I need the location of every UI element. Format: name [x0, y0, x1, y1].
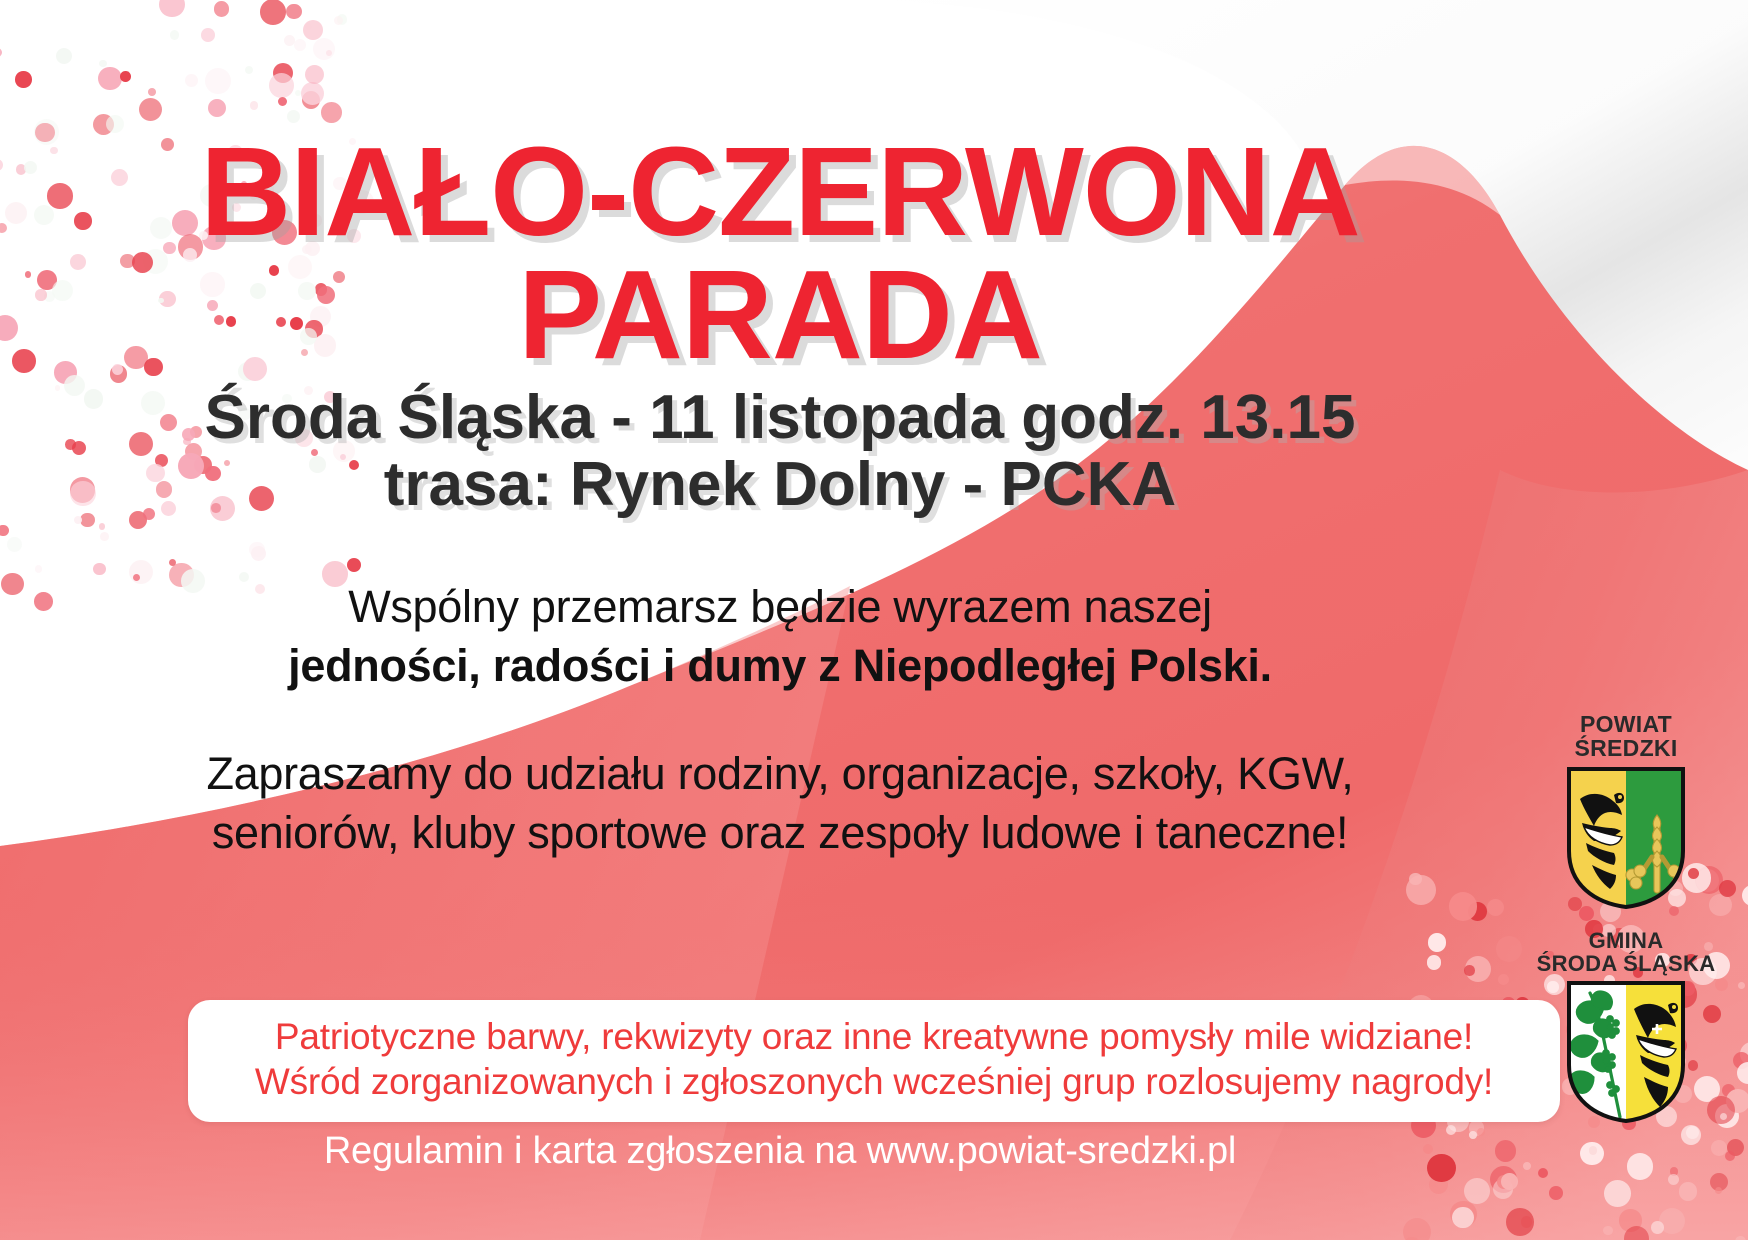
- paragraph-1-line-1: Wspólny przemarsz będzie wyrazem naszej: [0, 578, 1560, 637]
- highlight-line-1: Patriotyczne barwy, rekwizyty oraz inne …: [214, 1014, 1534, 1059]
- logo-gmina-caption-line-2: ŚRODA ŚLĄSKA: [1526, 952, 1726, 975]
- paragraph-1-line-2: jedności, radości i dumy z Niepodległej …: [0, 637, 1560, 696]
- title-line-1: BIAŁO-CZERWONA: [0, 130, 1560, 253]
- powiat-sredzki-coat-of-arms-icon: [1564, 765, 1688, 911]
- paragraph-invitation: Zapraszamy do udziału rodziny, organizac…: [0, 745, 1560, 862]
- gmina-sroda-slaska-coat-of-arms-icon: [1564, 979, 1688, 1125]
- poster-canvas: BIAŁO-CZERWONA PARADA Środa Śląska - 11 …: [0, 0, 1748, 1240]
- subtitle-route-line: trasa: Rynek Dolny - PCKA: [0, 452, 1560, 519]
- poster-subtitle: Środa Śląska - 11 listopada godz. 13.15 …: [0, 385, 1560, 519]
- logo-gmina-caption-line-1: GMINA: [1526, 929, 1726, 952]
- logo-stack: POWIAT ŚREDZKI: [1526, 712, 1726, 1125]
- title-line-2: PARADA: [0, 253, 1560, 376]
- poster-body: Wspólny przemarsz będzie wyrazem naszej …: [0, 578, 1560, 862]
- logo-powiat-sredzki: POWIAT ŚREDZKI: [1526, 712, 1726, 911]
- highlight-line-2: Wśród zorganizowanych i zgłoszonych wcze…: [214, 1059, 1534, 1104]
- poster-title: BIAŁO-CZERWONA PARADA: [0, 130, 1560, 377]
- paragraph-2-line-1: Zapraszamy do udziału rodziny, organizac…: [0, 745, 1560, 804]
- logo-powiat-caption: POWIAT ŚREDZKI: [1526, 712, 1726, 761]
- paragraph-unity: Wspólny przemarsz będzie wyrazem naszej …: [0, 578, 1560, 695]
- highlight-callout-box: Patriotyczne barwy, rekwizyty oraz inne …: [188, 1000, 1560, 1122]
- logo-gmina-sroda-slaska: GMINA ŚRODA ŚLĄSKA: [1526, 929, 1726, 1126]
- subtitle-date-line: Środa Śląska - 11 listopada godz. 13.15: [0, 385, 1560, 452]
- footer-website-note: Regulamin i karta zgłoszenia na www.powi…: [0, 1130, 1560, 1173]
- paragraph-2-line-2: seniorów, kluby sportowe oraz zespoły lu…: [0, 804, 1560, 863]
